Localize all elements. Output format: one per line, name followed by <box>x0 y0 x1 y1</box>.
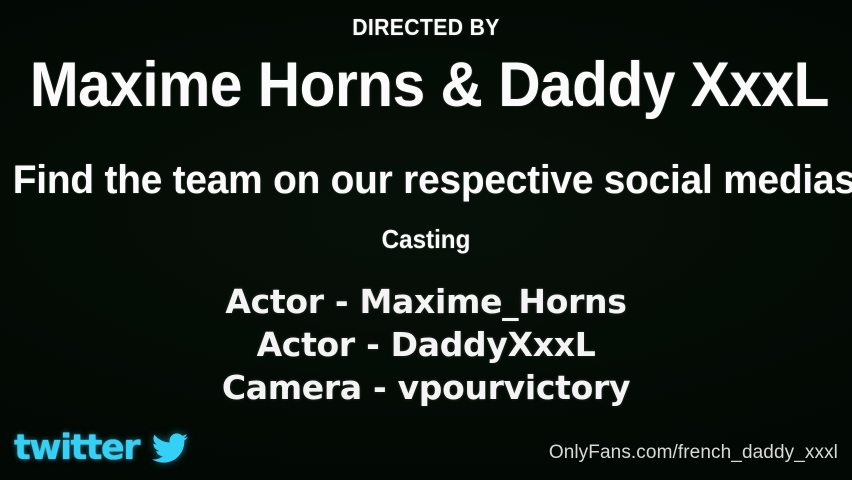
casting-list: Actor - Maxime_Horns Actor - DaddyXxxL C… <box>0 280 852 409</box>
onlyfans-url[interactable]: OnlyFans.com/french_daddy_xxxl <box>549 442 838 464</box>
casting-entry: Actor - DaddyXxxL <box>0 323 852 366</box>
twitter-bird-icon <box>149 430 191 466</box>
casting-entry: Camera - vpourvictory <box>0 366 852 409</box>
video-credits-frame: DIRECTED BY Maxime Horns & Daddy XxxL Fi… <box>0 0 852 480</box>
casting-entry: Actor - Maxime_Horns <box>0 280 852 323</box>
social-media-prompt: Find the team on our respective social m… <box>13 158 839 202</box>
director-names: Maxime Horns & Daddy XxxL <box>30 52 822 118</box>
twitter-wordmark: twitter <box>14 431 139 466</box>
directed-by-label: DIRECTED BY <box>34 14 818 41</box>
credits-container: DIRECTED BY Maxime Horns & Daddy XxxL Fi… <box>0 0 852 480</box>
casting-section-label: Casting <box>30 224 822 255</box>
twitter-badge[interactable]: twitter <box>14 426 191 470</box>
